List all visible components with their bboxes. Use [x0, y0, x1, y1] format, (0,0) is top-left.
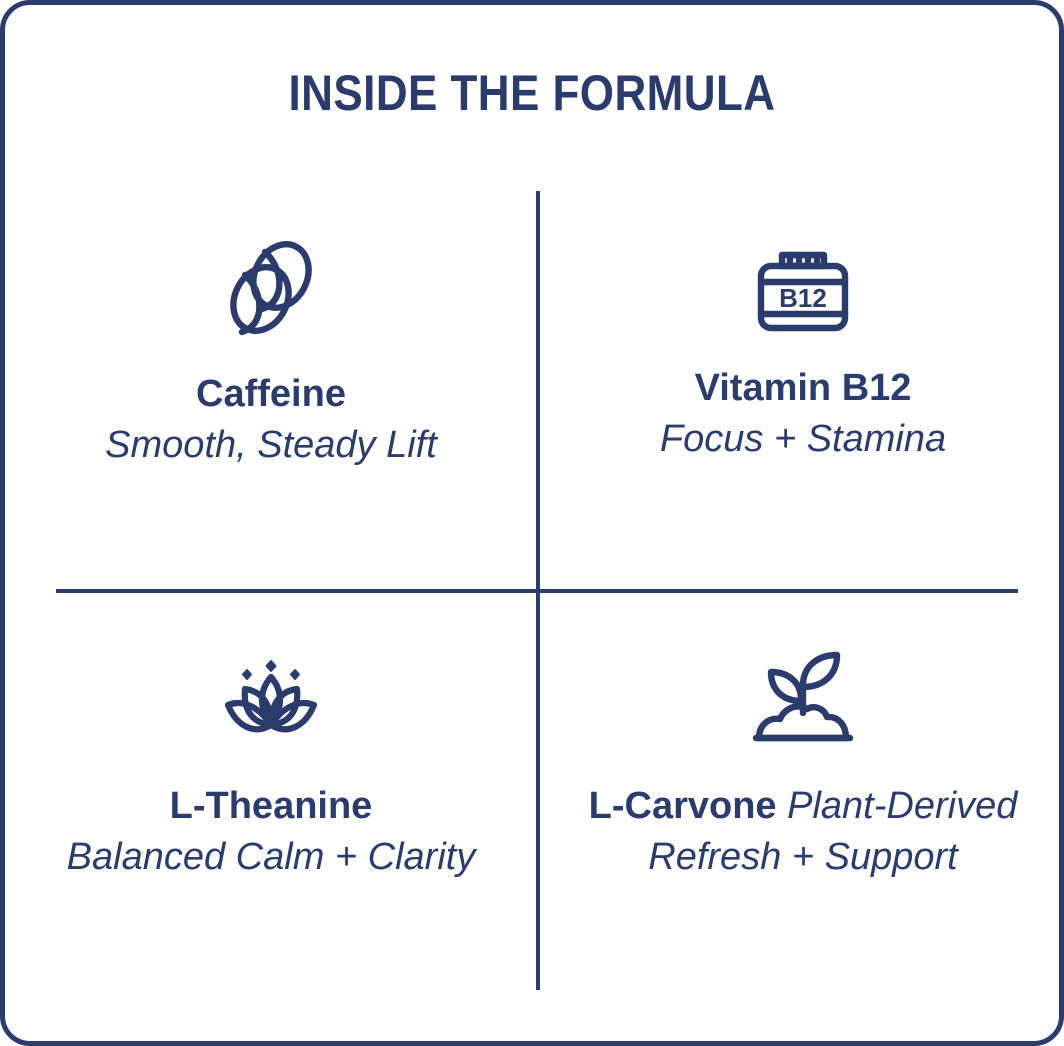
page-title: INSIDE THE FORMULA	[68, 67, 996, 120]
ingredient-name: Vitamin B12	[660, 363, 946, 414]
svg-text:B12: B12	[779, 283, 827, 313]
lotus-flower-icon	[215, 643, 327, 755]
coffee-beans-icon	[215, 233, 327, 345]
ingredient-description: Smooth, Steady Lift	[105, 424, 437, 466]
ingredient-description: Balanced Calm + Clarity	[67, 836, 476, 878]
ingredient-name: L-Carvone	[589, 785, 787, 827]
ingredient-description: Focus + Stamina	[660, 418, 946, 460]
formula-card: INSIDE THE FORMULA CaffeineSmooth, Stead…	[0, 0, 1064, 1046]
ingredient-name: Caffeine	[105, 369, 437, 420]
vitamin-bottle-b12-icon: B12	[749, 233, 857, 341]
ingredient-text-l-theanine: L-TheanineBalanced Calm + Clarity	[67, 781, 476, 882]
ingredient-text-caffeine: CaffeineSmooth, Steady Lift	[105, 369, 437, 470]
ingredient-cell-vitamin-b12: B12 Vitamin B12Focus + Stamina	[537, 191, 1064, 601]
ingredient-cell-l-carvone: L-Carvone Plant-Derived Refresh + Suppor…	[537, 601, 1064, 1011]
ingredient-cell-l-theanine: L-TheanineBalanced Calm + Clarity	[5, 601, 537, 1011]
ingredients-grid: CaffeineSmooth, Steady Lift B12	[5, 191, 1064, 1011]
ingredient-cell-caffeine: CaffeineSmooth, Steady Lift	[5, 191, 537, 601]
ingredient-text-vitamin-b12: Vitamin B12Focus + Stamina	[660, 363, 946, 464]
sprout-plant-icon	[747, 643, 859, 755]
ingredient-name: L-Theanine	[67, 781, 476, 832]
ingredient-text-l-carvone: L-Carvone Plant-Derived Refresh + Suppor…	[587, 781, 1019, 882]
